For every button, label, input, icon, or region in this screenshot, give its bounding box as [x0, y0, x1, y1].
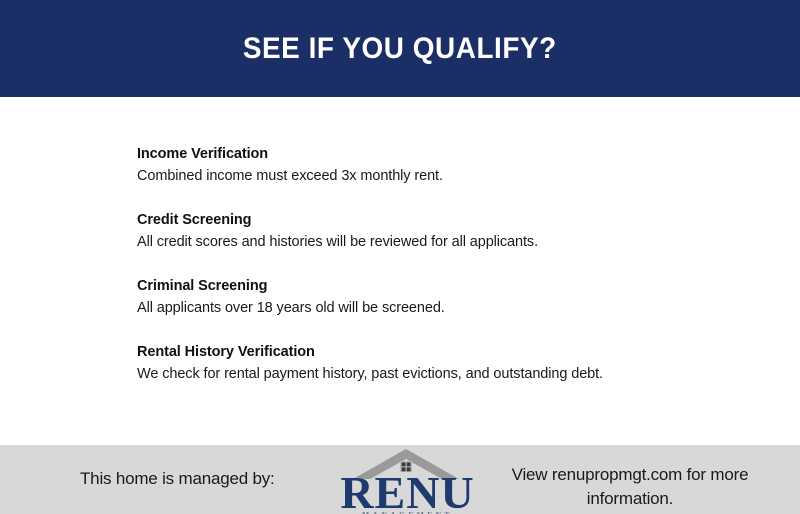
requirement-title: Income Verification: [137, 143, 757, 165]
page-title: SEE IF YOU QUALIFY?: [243, 32, 557, 66]
requirement-title: Rental History Verification: [137, 341, 757, 363]
requirement-item-credit-screening: Credit Screening All credit scores and h…: [137, 209, 757, 254]
renu-wordmark: RENU: [330, 470, 485, 514]
requirement-description: All credit scores and histories will be …: [137, 231, 757, 253]
qualification-flyer: SEE IF YOU QUALIFY? Income Verification …: [0, 0, 800, 514]
renu-logo: RENU MANAGEMENT: [330, 448, 485, 514]
requirement-description: All applicants over 18 years old will be…: [137, 297, 757, 319]
managed-by-label: This home is managed by:: [80, 469, 275, 489]
view-website-text: View renupropmgt.com for more informatio…: [505, 463, 755, 511]
requirements-list: Income Verification Combined income must…: [137, 143, 757, 386]
requirement-item-rental-history-verification: Rental History Verification We check for…: [137, 341, 757, 386]
page-footer: This home is managed by: RENU MANAGEMENT…: [0, 445, 800, 514]
requirement-item-income-verification: Income Verification Combined income must…: [137, 143, 757, 188]
requirement-item-criminal-screening: Criminal Screening All applicants over 1…: [137, 275, 757, 320]
requirements-section: Income Verification Combined income must…: [0, 97, 800, 445]
page-header: SEE IF YOU QUALIFY?: [0, 0, 800, 97]
requirement-title: Credit Screening: [137, 209, 757, 231]
requirement-description: Combined income must exceed 3x monthly r…: [137, 165, 757, 187]
requirement-title: Criminal Screening: [137, 275, 757, 297]
requirement-description: We check for rental payment history, pas…: [137, 363, 757, 385]
